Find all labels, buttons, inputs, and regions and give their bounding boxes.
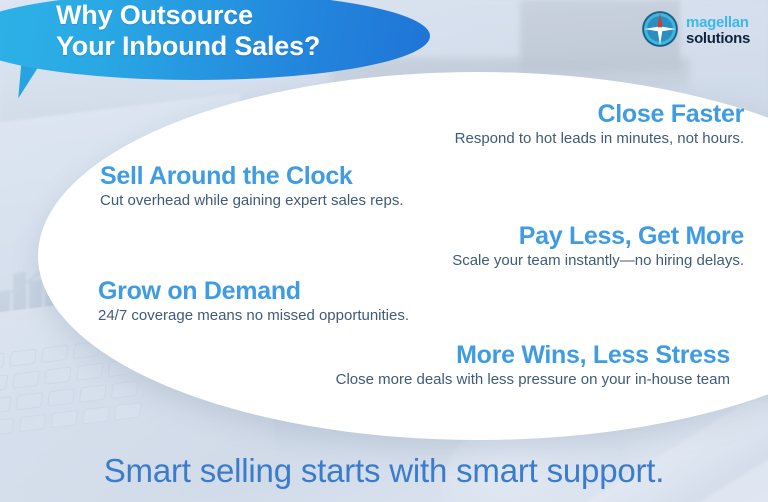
benefit-item-grow-on-demand: Grow on Demand 24/7 coverage means no mi… [98, 277, 409, 325]
page-title: Why Outsource Your Inbound Sales? [56, 0, 426, 62]
benefit-item-pay-less-get-more: Pay Less, Get More Scale your team insta… [452, 222, 744, 270]
benefit-subtitle: Scale your team instantly—no hiring dela… [452, 251, 744, 270]
benefit-title: Grow on Demand [98, 277, 409, 305]
compass-rose-icon [641, 10, 679, 48]
benefit-subtitle: Cut overhead while gaining expert sales … [100, 191, 404, 210]
benefit-item-close-faster: Close Faster Respond to hot leads in min… [455, 100, 744, 148]
footer-tagline: Smart selling starts with smart support. [0, 452, 768, 490]
brand-logo[interactable]: magellan solutions [641, 10, 750, 48]
benefit-title: Sell Around the Clock [100, 162, 404, 190]
headline-line-2: Your Inbound Sales? [56, 31, 320, 61]
brand-name-secondary: solutions [686, 31, 750, 46]
brand-name: magellan solutions [686, 13, 750, 46]
infographic-canvas: Why Outsource Your Inbound Sales? magell… [0, 0, 768, 502]
benefit-subtitle: Close more deals with less pressure on y… [336, 370, 730, 389]
benefit-title: Pay Less, Get More [452, 222, 744, 250]
benefit-title: Close Faster [455, 100, 744, 128]
benefit-subtitle: Respond to hot leads in minutes, not hou… [455, 129, 744, 148]
benefit-item-more-wins-less-stress: More Wins, Less Stress Close more deals … [336, 341, 730, 389]
headline-line-1: Why Outsource [56, 0, 253, 30]
benefit-item-sell-around-the-clock: Sell Around the Clock Cut overhead while… [100, 162, 404, 210]
benefit-title: More Wins, Less Stress [336, 341, 730, 369]
brand-name-primary: magellan [686, 15, 750, 30]
benefit-subtitle: 24/7 coverage means no missed opportunit… [98, 306, 409, 325]
headline-speech-bubble: Why Outsource Your Inbound Sales? [0, 0, 450, 107]
